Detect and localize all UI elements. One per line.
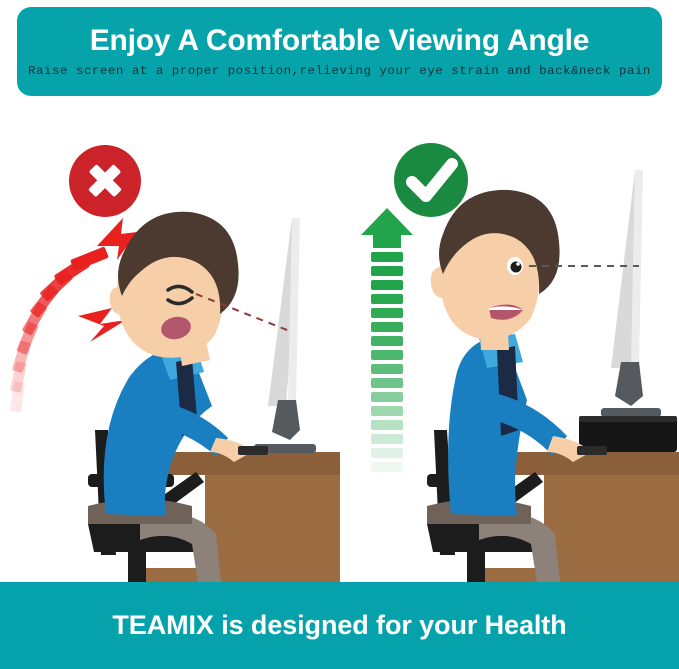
header-subtitle: Raise screen at a proper position,reliev… — [28, 64, 651, 78]
monitor-low — [254, 218, 316, 453]
scene-good-posture — [339, 100, 679, 582]
scene-bad-posture — [0, 100, 340, 582]
keyboard — [577, 446, 607, 455]
monitor-raised-on-riser — [579, 170, 677, 452]
cross-badge-icon — [69, 145, 141, 217]
keyboard — [238, 446, 268, 455]
rise-arrow-indicator-icon — [361, 208, 413, 472]
header-title: Enjoy A Comfortable Viewing Angle — [90, 25, 590, 57]
person-head-comfortable — [431, 190, 560, 350]
header-banner: Enjoy A Comfortable Viewing Angle Raise … — [17, 7, 662, 96]
footer-tagline: TEAMIX is designed for your Health — [112, 610, 566, 641]
illustration-area — [0, 100, 679, 582]
footer-banner: TEAMIX is designed for your Health — [0, 582, 679, 669]
check-badge-icon — [394, 143, 468, 217]
